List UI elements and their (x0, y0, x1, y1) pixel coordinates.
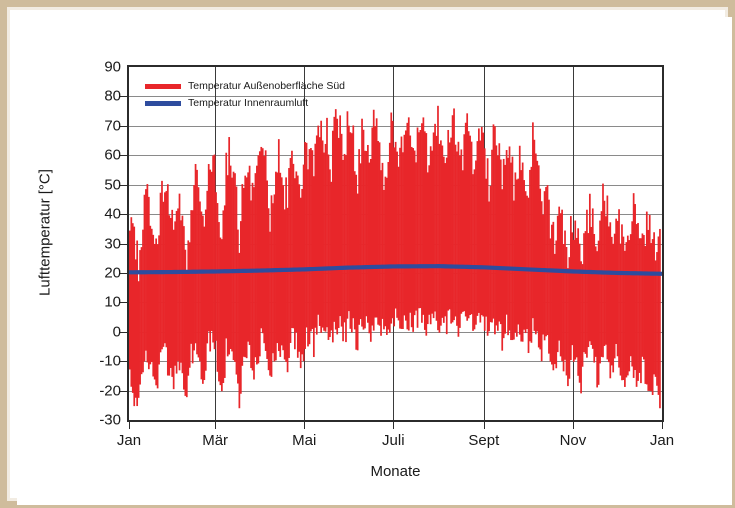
chart-legend: Temperatur Außenoberfläche SüdTemperatur… (145, 79, 345, 113)
x-tick-label: Jan (117, 433, 141, 448)
y-tick-label: 90 (81, 60, 121, 75)
y-tick-label: 10 (81, 295, 121, 310)
y-axis-tick-labels: 9080706050403020100-10-20-30 (75, 65, 121, 422)
legend-color-swatch (145, 84, 181, 89)
legend-label: Temperatur Innenraumluft (188, 98, 308, 109)
legend-color-swatch (145, 101, 181, 106)
y-tick-label: 0 (81, 324, 121, 339)
x-tick-mark (662, 422, 663, 429)
x-tick-label: Juli (382, 433, 405, 448)
x-tick-label: Sept (468, 433, 499, 448)
figure-frame: 9080706050403020100-10-20-30 JanMärMaiJu… (0, 0, 735, 508)
x-axis-title: Monate (127, 463, 664, 480)
series-aussenoberflaeche-suedband (129, 106, 661, 408)
x-tick-label: Nov (560, 433, 587, 448)
y-tick-label: 30 (81, 236, 121, 251)
y-tick-label: -30 (81, 413, 121, 428)
x-tick-mark (393, 422, 394, 429)
x-tick-mark (573, 422, 574, 429)
legend-item: Temperatur Innenraumluft (145, 96, 345, 111)
x-tick-label: Mär (202, 433, 228, 448)
y-tick-label: 70 (81, 118, 121, 133)
y-tick-label: -10 (81, 354, 121, 369)
y-tick-label: 80 (81, 89, 121, 104)
x-axis-tick-labels: JanMärMaiJuliSeptNovJan (127, 429, 664, 455)
figure-inner-background: 9080706050403020100-10-20-30 JanMärMaiJu… (17, 17, 732, 505)
y-tick-label: 40 (81, 207, 121, 222)
y-axis-title: Lufttemperatur [°C] (37, 123, 54, 343)
x-tick-mark (484, 422, 485, 429)
y-tick-label: 50 (81, 177, 121, 192)
y-tick-label: -20 (81, 383, 121, 398)
y-tick-label: 60 (81, 148, 121, 163)
x-tick-label: Mai (292, 433, 316, 448)
x-tick-label: Jan (650, 433, 674, 448)
legend-item: Temperatur Außenoberfläche Süd (145, 79, 345, 94)
series-layer (129, 67, 662, 420)
plot-area (127, 65, 664, 422)
x-tick-mark (304, 422, 305, 429)
y-tick-label: 20 (81, 265, 121, 280)
x-tick-mark (215, 422, 216, 429)
x-tick-mark (129, 422, 130, 429)
legend-label: Temperatur Außenoberfläche Süd (188, 81, 345, 92)
temperature-chart: 9080706050403020100-10-20-30 JanMärMaiJu… (17, 17, 732, 505)
